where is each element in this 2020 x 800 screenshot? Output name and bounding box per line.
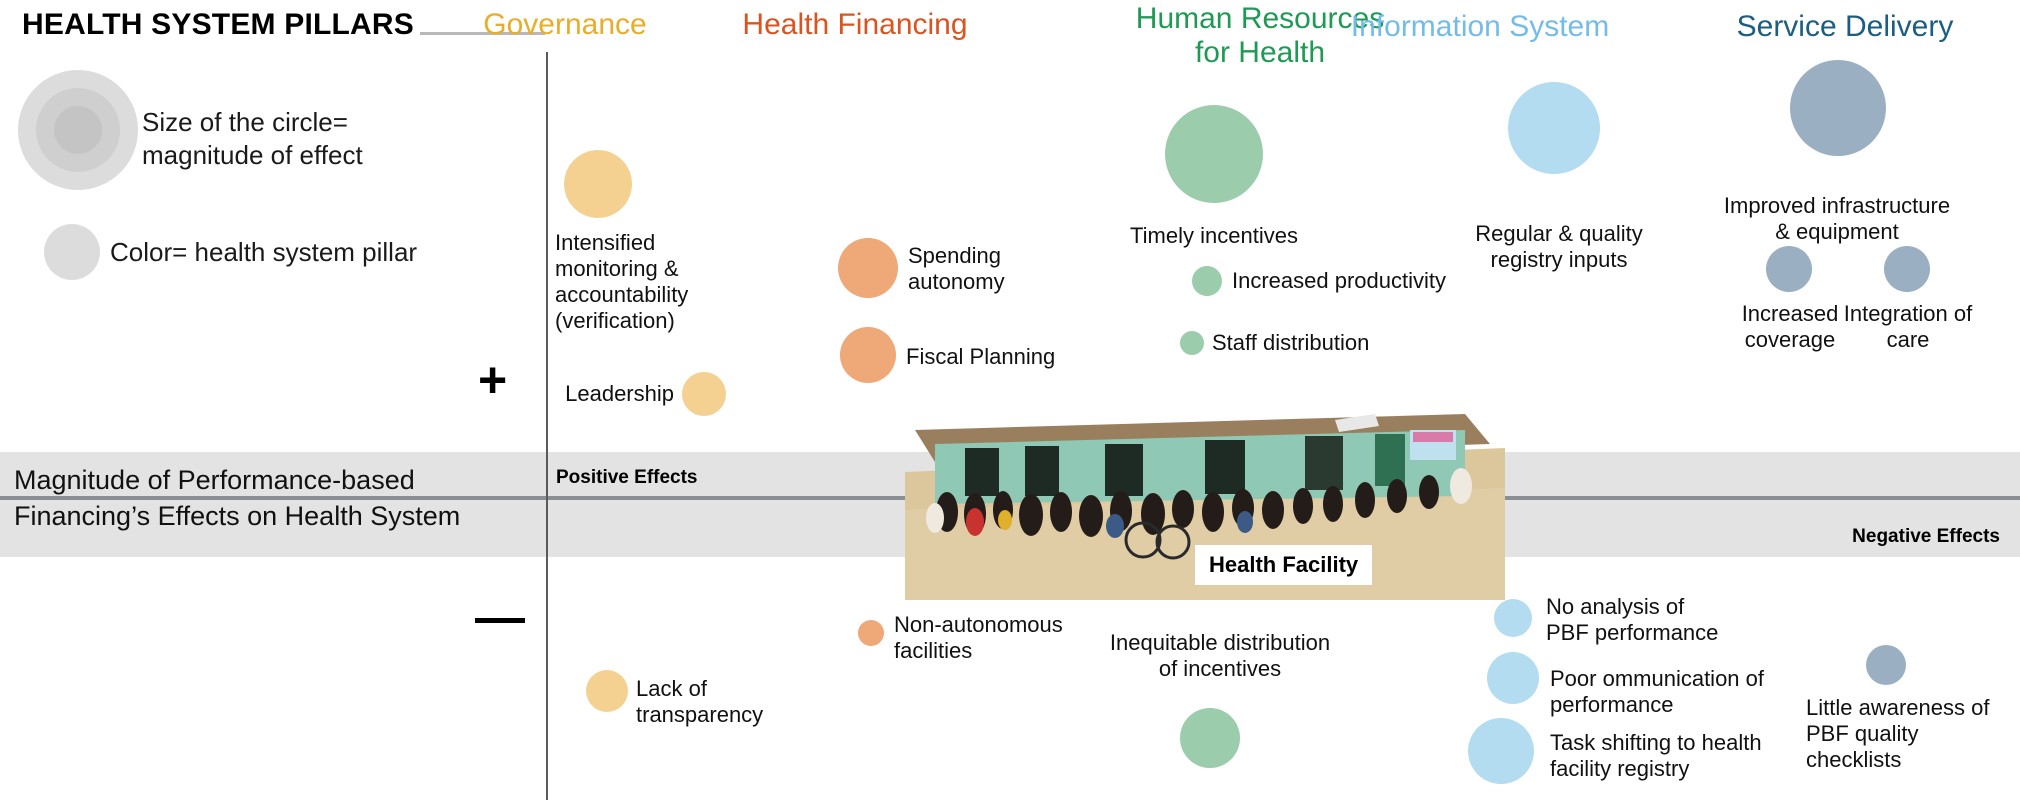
label-line: Non-autonomous (894, 612, 1124, 638)
label-line: facilities (894, 638, 1124, 664)
label-line: transparency (636, 702, 836, 728)
legend-magnitude-ring-inner (54, 106, 102, 154)
label-line: No analysis of (1546, 594, 1806, 620)
axis-label: Magnitude of Performance-based Financing… (14, 462, 534, 534)
bubble-hrh-staff-distribution[interactable] (1180, 331, 1204, 355)
label-line: Spending (908, 243, 1108, 269)
bubble-label-is-registry-inputs: Regular & quality registry inputs (1444, 221, 1674, 273)
bubble-gov-intensified-monitoring[interactable] (564, 150, 632, 218)
bubble-is-registry-inputs[interactable] (1508, 82, 1600, 174)
bubble-hf-fiscal-planning[interactable] (840, 327, 896, 383)
bubble-label-sd-little-awareness: Little awareness of PBF quality checklis… (1806, 695, 2020, 773)
bubble-hrh-timely-incentives[interactable] (1165, 105, 1263, 203)
bubble-label-sd-integration-of-care: Integration of care (1834, 301, 1982, 353)
label-line: performance (1550, 692, 1840, 718)
bubble-label-hrh-inequitable-distribution: Inequitable distribution of incentives (1100, 630, 1340, 682)
bubble-sd-integration-of-care[interactable] (1884, 246, 1930, 292)
health-facility-caption: Health Facility (1195, 545, 1372, 585)
label-line: registry inputs (1444, 247, 1674, 273)
legend-color-label: Color= health system pillar (110, 237, 417, 268)
bubble-label-hrh-staff-distribution: Staff distribution (1212, 330, 1472, 356)
label-line: Improved infrastructure (1692, 193, 1982, 219)
label-line: care (1834, 327, 1982, 353)
bubble-label-hf-spending-autonomy: Spending autonomy (908, 243, 1108, 295)
pillar-header-information-system: Information System (1270, 10, 1690, 44)
bubble-hf-spending-autonomy[interactable] (838, 238, 898, 298)
bubble-hf-non-autonomous-facilities[interactable] (858, 620, 884, 646)
bubble-gov-leadership[interactable] (682, 372, 726, 416)
label-line: facility registry (1550, 756, 1850, 782)
pillar-axis-line (546, 52, 548, 800)
legend-color-swatch (44, 224, 100, 280)
legend-size-label: Size of the circle= magnitude of effect (142, 106, 402, 172)
label-line: Intensified (555, 230, 805, 256)
label-line: & equipment (1692, 219, 1982, 245)
bubble-is-task-shifting[interactable] (1468, 718, 1534, 784)
bubble-label-gov-lack-of-transparency: Lack of transparency (636, 676, 836, 728)
pillar-header-service-delivery: Service Delivery (1670, 10, 2020, 44)
label-line: PBF quality (1806, 721, 2020, 747)
bubble-hrh-increased-productivity[interactable] (1192, 266, 1222, 296)
bubble-label-hrh-timely-incentives: Timely incentives (1114, 223, 1314, 249)
label-line: Little awareness of (1806, 695, 2020, 721)
minus-sign-icon: — (475, 592, 525, 642)
label-line: Poor ommunication of (1550, 666, 1840, 692)
label-line: Regular & quality (1444, 221, 1674, 247)
label-line: PBF performance (1546, 620, 1806, 646)
label-line: Inequitable distribution (1100, 630, 1340, 656)
bubble-label-gov-intensified-monitoring: Intensified monitoring & accountability … (555, 230, 805, 334)
bubble-sd-increased-coverage[interactable] (1766, 246, 1812, 292)
label-line: autonomy (908, 269, 1108, 295)
label-line: checklists (1806, 747, 2020, 773)
label-line: Integration of (1834, 301, 1982, 327)
label-line: accountability (verification) (555, 282, 805, 334)
label-line: monitoring & (555, 256, 805, 282)
bubble-gov-lack-of-transparency[interactable] (586, 670, 628, 712)
bubble-label-sd-improved-infrastructure: Improved infrastructure & equipment (1692, 193, 1982, 245)
label-line: Task shifting to health (1550, 730, 1850, 756)
label-line: of incentives (1100, 656, 1340, 682)
bubble-hrh-inequitable-distribution[interactable] (1180, 708, 1240, 768)
positive-effects-label: Positive Effects (556, 467, 698, 489)
bubble-label-hf-fiscal-planning: Fiscal Planning (906, 344, 1126, 370)
negative-effects-label: Negative Effects (1852, 526, 2000, 548)
pillar-header-health-financing: Health Financing (690, 8, 1020, 42)
bubble-sd-little-awareness[interactable] (1866, 645, 1906, 685)
bubble-label-is-no-analysis: No analysis of PBF performance (1546, 594, 1806, 646)
bubble-label-is-poor-communication: Poor ommunication of performance (1550, 666, 1840, 718)
bubble-is-no-analysis[interactable] (1494, 599, 1532, 637)
bubble-label-gov-leadership: Leadership (492, 381, 674, 407)
bubble-sd-improved-infrastructure[interactable] (1790, 60, 1886, 156)
label-line: Lack of (636, 676, 836, 702)
pillar-header-governance: Governance (400, 8, 730, 42)
page-title: HEALTH SYSTEM PILLARS (22, 8, 414, 42)
bubble-label-is-task-shifting: Task shifting to health facility registr… (1550, 730, 1850, 782)
bubble-label-hf-non-autonomous-facilities: Non-autonomous facilities (894, 612, 1124, 664)
bubble-is-poor-communication[interactable] (1487, 652, 1539, 704)
